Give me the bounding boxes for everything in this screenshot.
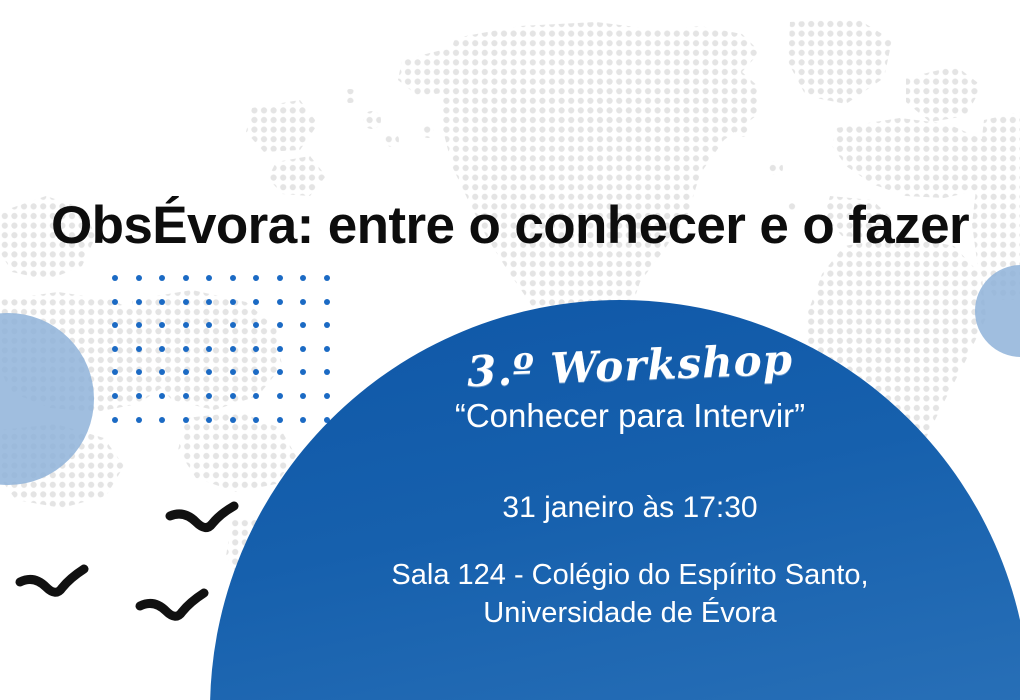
grid-dot	[183, 275, 189, 281]
grid-dot	[183, 417, 189, 423]
grid-dot	[230, 299, 236, 305]
grid-dot	[253, 393, 259, 399]
grid-dot	[136, 346, 142, 352]
grid-dot	[136, 417, 142, 423]
grid-dot	[183, 346, 189, 352]
grid-dot	[159, 275, 165, 281]
grid-dot	[183, 393, 189, 399]
grid-dot	[206, 346, 212, 352]
grid-dot	[136, 299, 142, 305]
grid-dot	[206, 275, 212, 281]
grid-dot	[230, 275, 236, 281]
grid-dot	[277, 299, 283, 305]
event-poster: ObsÉvora: entre o conhecer e o fazer 3.º…	[0, 0, 1020, 700]
grid-dot	[159, 346, 165, 352]
grid-dot	[300, 275, 306, 281]
grid-dot	[159, 393, 165, 399]
grid-dot	[230, 393, 236, 399]
page-title: ObsÉvora: entre o conhecer e o fazer	[0, 198, 1020, 254]
grid-dot	[230, 322, 236, 328]
event-venue: Sala 124 - Colégio do Espírito Santo, Un…	[280, 556, 980, 633]
grid-dot	[112, 299, 118, 305]
event-venue-line-1: Sala 124 - Colégio do Espírito Santo,	[280, 556, 980, 594]
grid-dot	[230, 417, 236, 423]
grid-dot	[112, 275, 118, 281]
grid-dot	[112, 393, 118, 399]
event-datetime: 31 janeiro às 17:30	[280, 490, 980, 526]
grid-dot	[136, 322, 142, 328]
grid-dot	[206, 417, 212, 423]
grid-dot	[159, 417, 165, 423]
grid-dot	[183, 299, 189, 305]
grid-dot	[159, 299, 165, 305]
event-venue-line-2: Universidade de Évora	[280, 594, 980, 632]
grid-dot	[277, 322, 283, 328]
grid-dot	[136, 275, 142, 281]
grid-dot	[324, 322, 330, 328]
grid-dot	[230, 346, 236, 352]
hero-text-block: 3.º Workshop “Conhecer para Intervir” 31…	[280, 344, 980, 632]
grid-dot	[206, 393, 212, 399]
workshop-theme: “Conhecer para Intervir”	[280, 396, 980, 436]
grid-dot	[253, 275, 259, 281]
grid-dot	[324, 299, 330, 305]
grid-dot	[112, 346, 118, 352]
grid-dot	[277, 275, 283, 281]
grid-dot	[206, 299, 212, 305]
grid-dot	[136, 369, 142, 375]
grid-dot	[253, 417, 259, 423]
grid-dot	[230, 369, 236, 375]
grid-dot	[183, 369, 189, 375]
grid-dot	[136, 393, 142, 399]
grid-dot	[300, 299, 306, 305]
grid-dot	[183, 322, 189, 328]
grid-dot	[253, 346, 259, 352]
grid-dot	[324, 275, 330, 281]
grid-dot	[253, 299, 259, 305]
grid-dot	[112, 417, 118, 423]
